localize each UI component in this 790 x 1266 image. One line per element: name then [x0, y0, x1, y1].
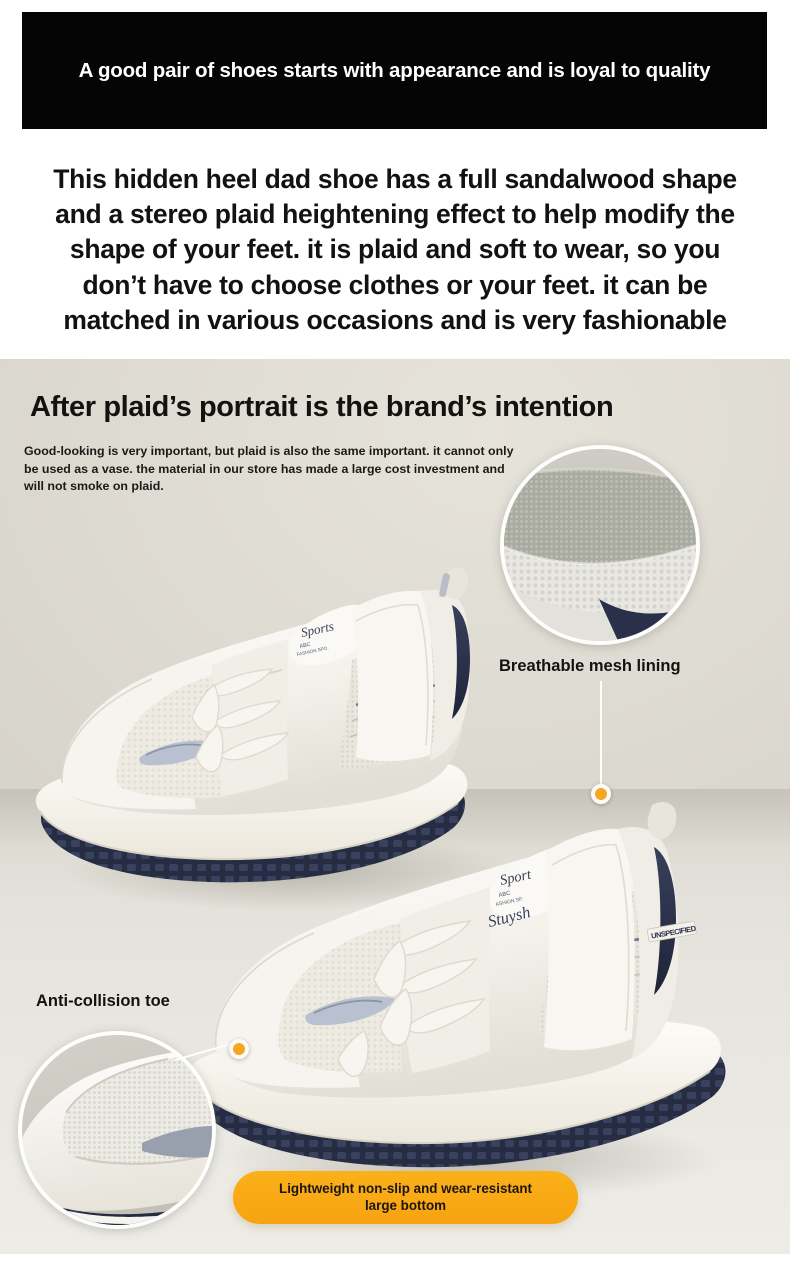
- bottom-white-strip: [0, 1254, 790, 1266]
- pill-line-1: Lightweight non-slip and wear-resistant: [279, 1181, 532, 1196]
- top-banner-section: A good pair of shoes starts with appeara…: [0, 0, 790, 140]
- svg-text:ABC: ABC: [299, 642, 311, 650]
- inset-anti-collision-toe: [18, 1031, 216, 1229]
- callout-label-breathable-mesh-lining: Breathable mesh lining: [499, 657, 681, 676]
- hotspot-dot-mesh[interactable]: [591, 784, 611, 804]
- bottom-feature-pill: Lightweight non-slip and wear-resistant …: [233, 1171, 578, 1224]
- intro-paragraph: This hidden heel dad shoe has a full san…: [38, 162, 752, 338]
- inset-breathable-mesh-lining: [500, 445, 700, 645]
- svg-text:FASHION SPO.: FASHION SPO.: [296, 645, 329, 657]
- bottom-feature-pill-text: Lightweight non-slip and wear-resistant …: [279, 1181, 532, 1214]
- hotspot-dot-toe[interactable]: [229, 1039, 249, 1059]
- callout-label-anti-collision-toe: Anti-collision toe: [36, 992, 170, 1011]
- product-feature-section: After plaid’s portrait is the brand’s in…: [0, 359, 790, 1254]
- feature-section-subtext: Good-looking is very important, but plai…: [24, 443, 524, 496]
- pill-line-2: large bottom: [365, 1198, 446, 1213]
- headline-text: A good pair of shoes starts with appeara…: [79, 59, 711, 83]
- headline-banner: A good pair of shoes starts with appeara…: [22, 12, 767, 129]
- intro-section: This hidden heel dad shoe has a full san…: [0, 140, 790, 359]
- feature-section-heading: After plaid’s portrait is the brand’s in…: [30, 391, 760, 424]
- svg-text:Sports: Sports: [300, 618, 336, 640]
- connector-line-mesh: [600, 681, 602, 791]
